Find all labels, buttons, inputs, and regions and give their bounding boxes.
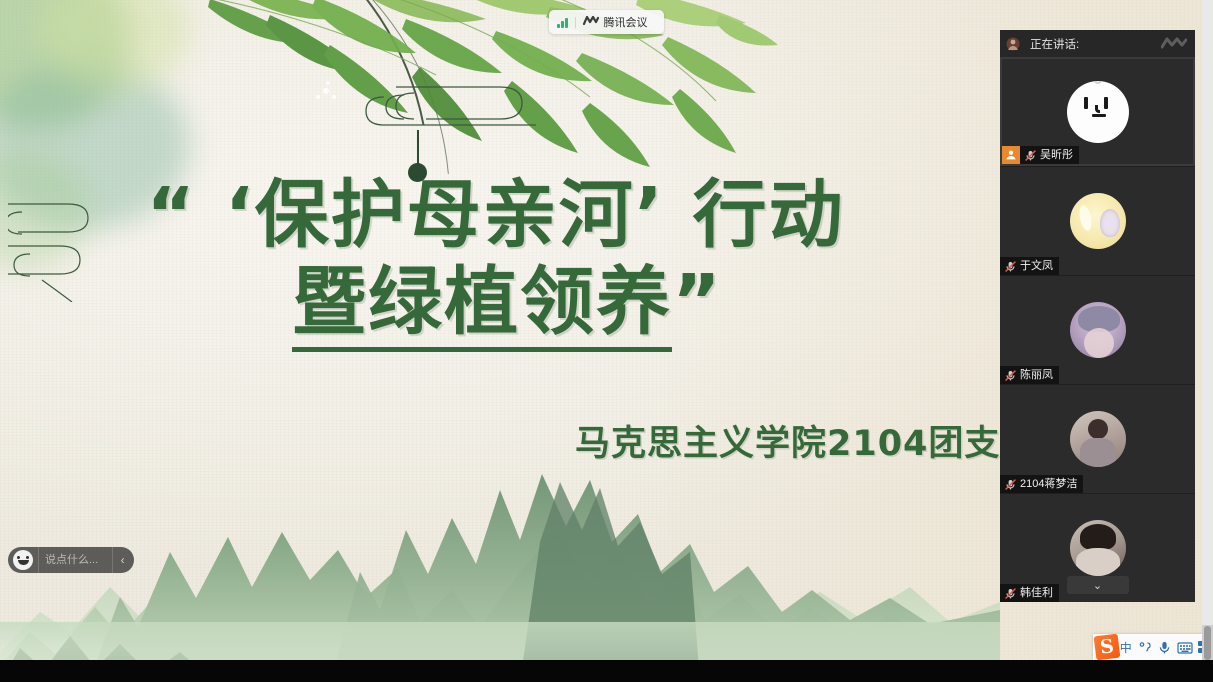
tencent-meeting-label: 腾讯会议 xyxy=(604,14,648,30)
punctuation-mode-toggle[interactable] xyxy=(1137,636,1155,658)
participant-name-tag: 2104蒋梦洁 xyxy=(1000,475,1083,493)
scrollbar-thumb[interactable] xyxy=(1204,626,1211,660)
divider xyxy=(575,17,576,28)
mic-muted-icon xyxy=(1024,149,1037,162)
avatar xyxy=(1070,302,1126,358)
tencent-meeting-indicator[interactable]: 腾讯会议 xyxy=(549,10,664,34)
avatar-nose xyxy=(1095,105,1100,113)
slide-title-line-2: 暨绿植领养” xyxy=(0,265,985,340)
soft-keyboard-icon[interactable] xyxy=(1176,636,1194,658)
participant-name-tag: 于文凤 xyxy=(1000,257,1059,275)
voice-input-icon[interactable] xyxy=(1156,636,1174,658)
avatar xyxy=(1070,411,1126,467)
avatar-hanger-decoration xyxy=(1093,81,1102,84)
participant-name-tag: 吴昕彤 xyxy=(1002,146,1079,164)
slide-title-line-2-underlined: 暨绿植领养 xyxy=(292,259,672,352)
sogou-logo-icon[interactable]: S xyxy=(1094,634,1121,661)
chat-collapse-button[interactable]: ‹ xyxy=(112,547,132,573)
chat-input[interactable]: 说点什么... xyxy=(38,547,112,573)
sidebar-header: 正在讲话: xyxy=(1000,30,1195,57)
participant-name-tag: 陈丽凤 xyxy=(1000,366,1059,384)
participant-name: 陈丽凤 xyxy=(1020,366,1053,384)
participant-name-tag: 韩佳利 xyxy=(1000,584,1059,602)
slide-title-block: “ ‘保护母亲河’ 行动 暨绿植领养” xyxy=(0,178,985,341)
screen: “ ‘保护母亲河’ 行动 暨绿植领养” 马克思主义学院2104团支部 腾讯会议 … xyxy=(0,0,1213,682)
chat-input-bar[interactable]: 说点什么... ‹ xyxy=(8,547,134,573)
participant-tile[interactable]: 2104蒋梦洁 xyxy=(1000,384,1195,493)
avatar xyxy=(1070,193,1126,249)
participant-name: 吴昕彤 xyxy=(1040,146,1073,164)
participant-name: 2104蒋梦洁 xyxy=(1020,475,1077,493)
mic-muted-icon xyxy=(1004,260,1017,273)
speaker-avatar-icon xyxy=(1006,37,1020,51)
avatar xyxy=(1070,520,1126,576)
participant-name: 于文凤 xyxy=(1020,257,1053,275)
sogou-ime-toolbar[interactable]: S 中 xyxy=(1093,634,1213,660)
mic-muted-icon xyxy=(1004,587,1017,600)
emoji-smiley-icon[interactable] xyxy=(13,550,33,570)
scrollbar-track xyxy=(1202,0,1213,625)
tencent-meeting-logo-icon xyxy=(583,16,599,28)
sidebar-header-title: 正在讲话: xyxy=(1030,36,1079,52)
signal-bars-icon xyxy=(557,17,568,28)
participant-tile[interactable]: 陈丽凤 xyxy=(1000,275,1195,384)
window-scrollbar[interactable] xyxy=(1202,0,1213,682)
participant-tile[interactable]: 吴昕彤 xyxy=(1000,57,1195,166)
slide-subtitle: 马克思主义学院2104团支部 xyxy=(575,415,1036,466)
mic-muted-icon xyxy=(1004,478,1017,491)
participant-tile[interactable]: ⌄ 韩佳利 xyxy=(1000,493,1195,602)
participant-name: 韩佳利 xyxy=(1020,584,1053,602)
participant-tile[interactable]: 于文凤 xyxy=(1000,166,1195,275)
tencent-meeting-logo-icon xyxy=(1161,37,1187,52)
avatar xyxy=(1067,81,1129,143)
scroll-down-button[interactable]: ⌄ xyxy=(1067,576,1129,594)
bottom-black-bar xyxy=(0,660,1213,682)
mic-muted-icon xyxy=(1004,369,1017,382)
host-person-icon xyxy=(1002,146,1020,164)
slide-title-line-1: “ ‘保护母亲河’ 行动 xyxy=(0,178,985,253)
participant-sidebar[interactable]: 正在讲话: xyxy=(1000,30,1195,602)
slide-title-line-2-tail: ” xyxy=(672,259,723,345)
